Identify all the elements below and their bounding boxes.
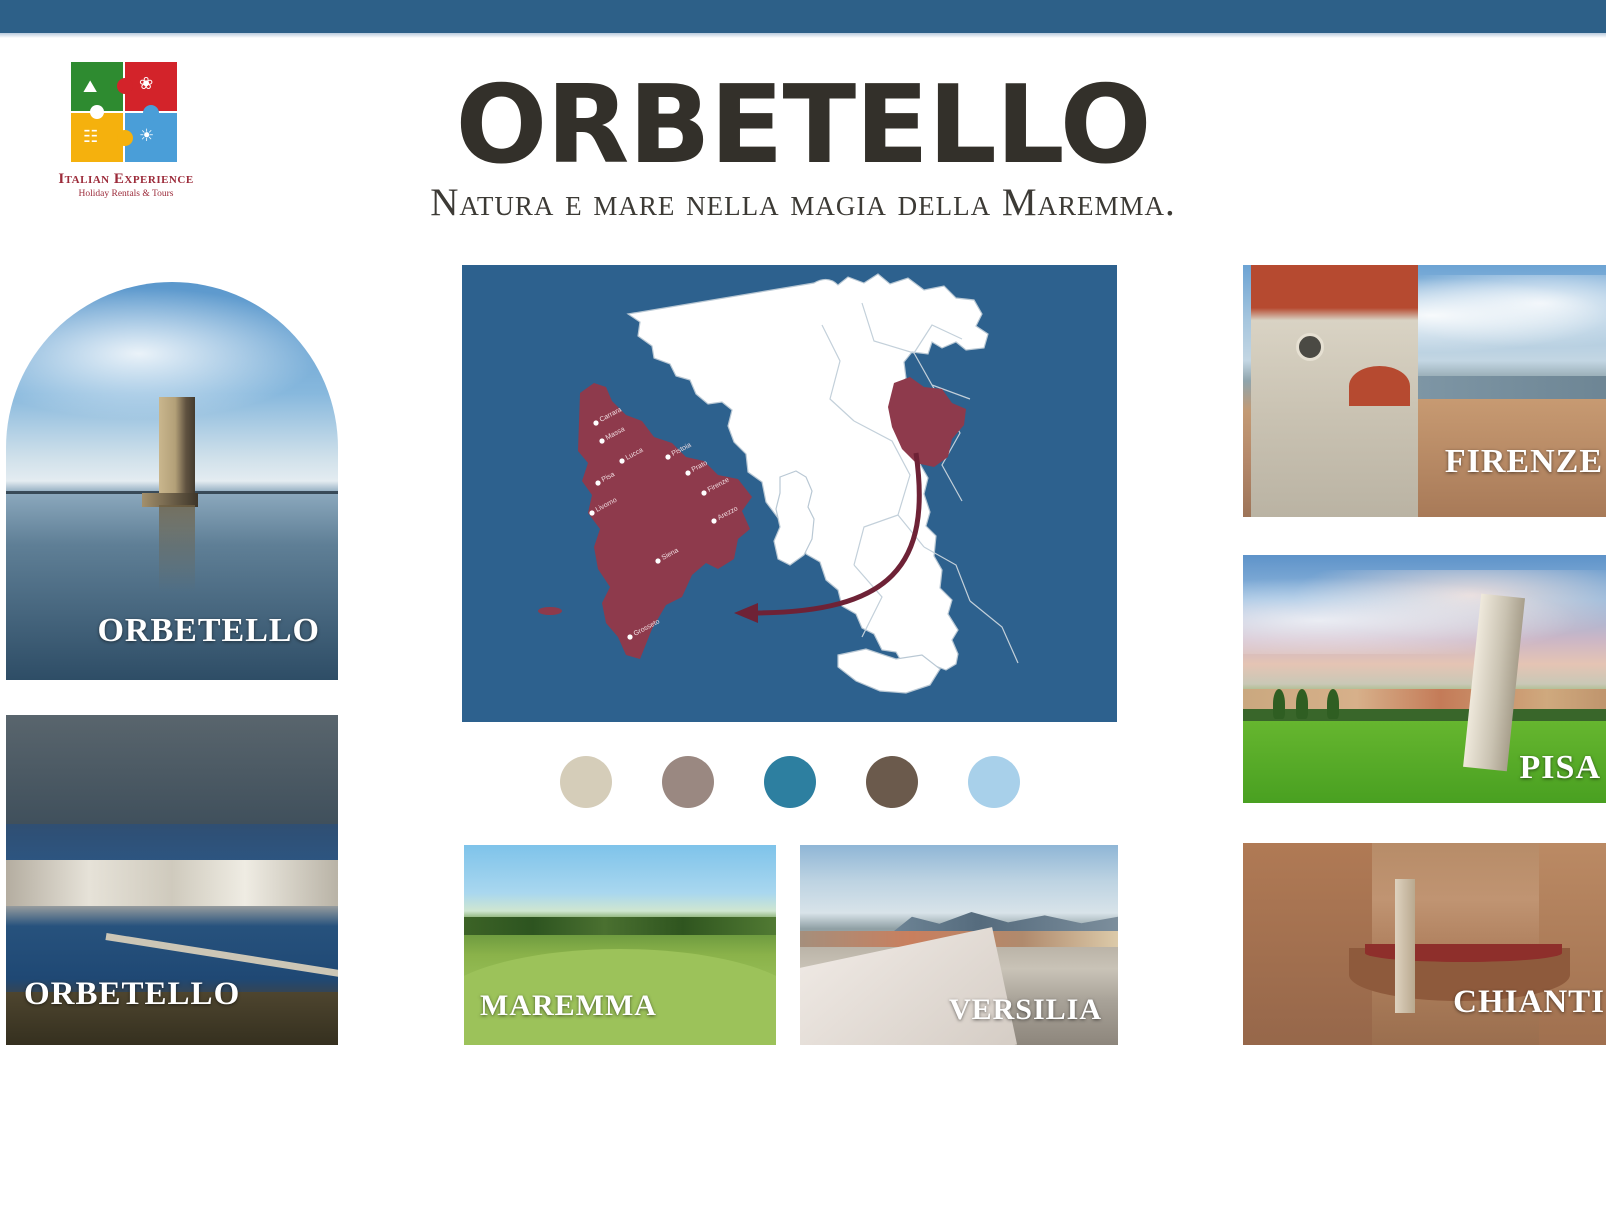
town-strip	[6, 860, 338, 906]
mountain-ridge	[6, 715, 338, 824]
tuscany-enlarged	[578, 383, 752, 659]
arrow-head-icon	[734, 603, 758, 623]
elba-island	[538, 607, 562, 615]
page-title: ORBETELLO	[0, 72, 1606, 180]
tuscany-location-map[interactable]: Carrara Massa Lucca Pistoia Prato Pisa F…	[462, 265, 1117, 722]
torre-del-mangia	[1395, 879, 1415, 1012]
duomo-dome	[1349, 366, 1410, 406]
cypress-tree	[1327, 689, 1339, 719]
photo-caption: VERSILIA	[949, 993, 1102, 1027]
swatch-teal[interactable]	[764, 756, 816, 808]
lagoon-mill-tower	[159, 397, 195, 500]
page-subtitle: Natura e mare nella magia della Maremma.	[0, 180, 1606, 225]
photo-card-maremma[interactable]: MAREMMA	[464, 845, 776, 1045]
swatch-mauve[interactable]	[662, 756, 714, 808]
water-reflection	[159, 505, 195, 593]
photo-card-versilia[interactable]: VERSILIA	[800, 845, 1118, 1045]
cypress-tree	[1273, 689, 1285, 719]
top-bar-shadow	[0, 33, 1606, 38]
treeline	[464, 917, 776, 935]
distant-hills	[1414, 376, 1606, 401]
swatch-brown[interactable]	[866, 756, 918, 808]
photo-caption: ORBETELLO	[97, 612, 320, 650]
top-bar	[0, 0, 1606, 33]
photo-caption: ORBETELLO	[24, 976, 240, 1013]
photo-caption: PISA	[1520, 749, 1601, 787]
color-palette-row	[462, 752, 1117, 812]
cypress-tree	[1296, 689, 1308, 719]
photo-card-orbetello-aerial[interactable]: ORBETELLO	[6, 715, 338, 1045]
photo-caption: MAREMMA	[480, 989, 657, 1023]
photo-card-chianti[interactable]: CHIANTI	[1243, 843, 1606, 1045]
rooftops-left	[1243, 843, 1372, 1045]
clouds	[1243, 570, 1606, 654]
causeway	[105, 933, 338, 980]
swatch-sky[interactable]	[968, 756, 1020, 808]
photo-caption: FIRENZE	[1445, 443, 1603, 481]
photo-card-firenze[interactable]: FIRENZE	[1243, 265, 1606, 517]
photo-caption: CHIANTI	[1453, 984, 1605, 1021]
photo-card-orbetello-lagoon[interactable]: ORBETELLO	[6, 282, 338, 680]
swatch-beige[interactable]	[560, 756, 612, 808]
photo-card-pisa[interactable]: PISA	[1243, 555, 1606, 803]
